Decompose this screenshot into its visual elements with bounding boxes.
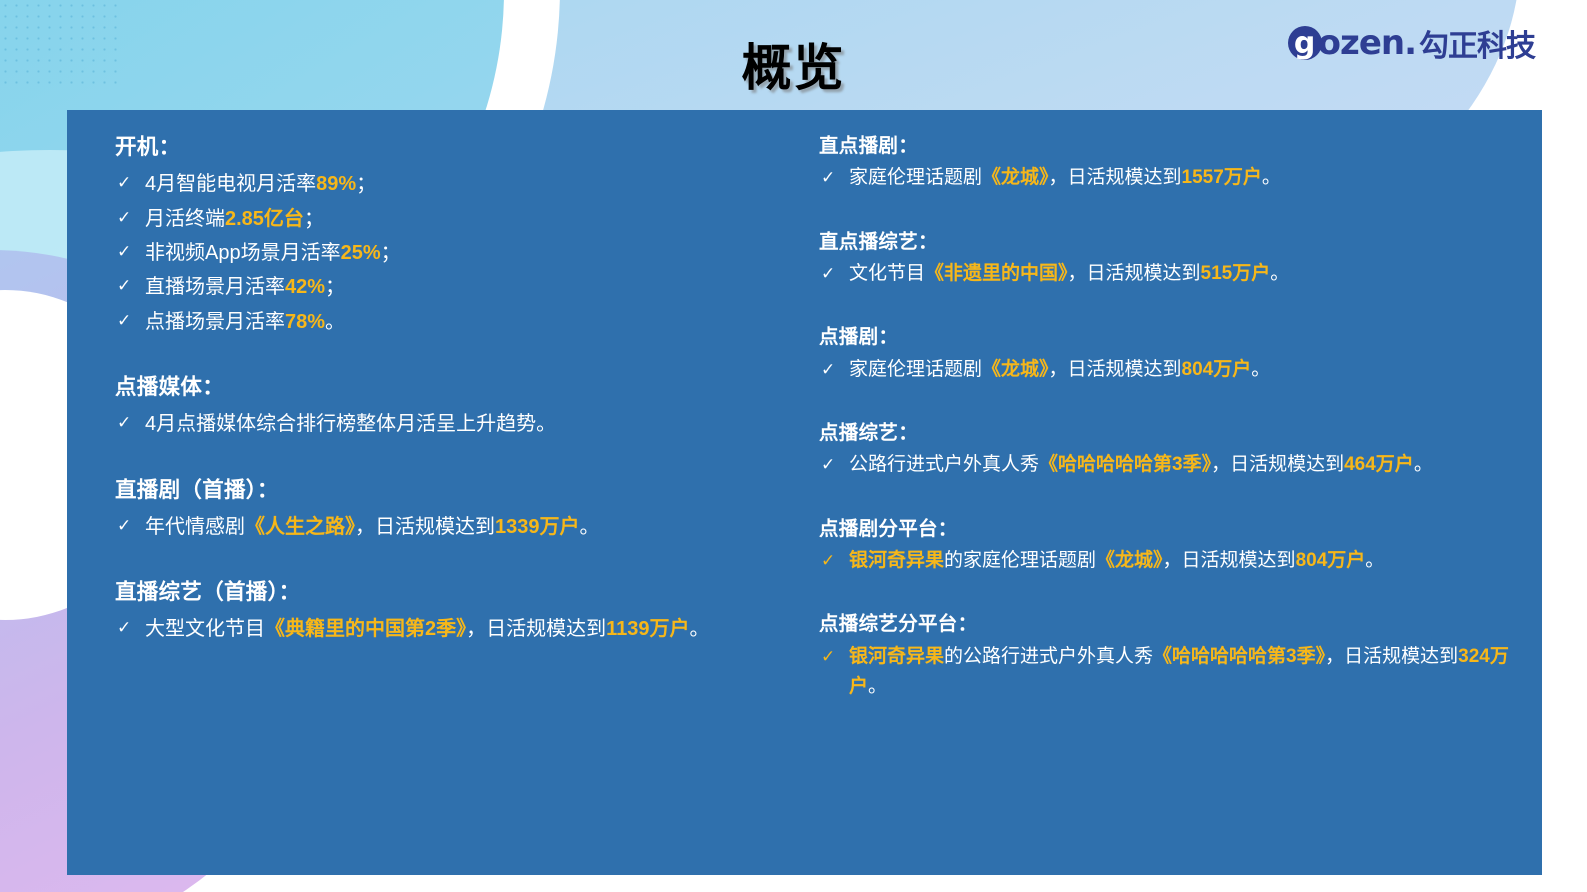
checkmark-icon: ✓ [819,259,849,288]
highlight-text: 78% [285,311,325,333]
highlight-text: 804万户 [1296,550,1366,571]
block-spacer [115,457,793,475]
plain-text: ； [304,208,324,230]
plain-text: 。 [1270,263,1289,284]
bullet-text: 家庭伦理话题剧《龙城》，日活规模达到804万户。 [849,355,1520,385]
bullet-text: 银河奇异果的家庭伦理话题剧《龙城》，日活规模达到804万户。 [849,546,1520,576]
content-block: 直点播综艺：✓文化节目《非遗里的中国》，日活规模达到515万户。 [819,228,1520,290]
highlight-text: 804万户 [1182,359,1252,380]
checkmark-icon: ✓ [115,613,145,642]
plain-text: ； [356,173,376,195]
plain-text: 的公路行进式户外真人秀 [944,646,1153,667]
bullet-item: ✓年代情感剧《人生之路》，日活规模达到1339万户。 [115,511,793,543]
checkmark-icon: ✓ [115,168,145,197]
highlight-text: 《哈哈哈哈哈第3季》 [1039,454,1211,475]
highlight-text: 《龙城》 [982,359,1049,380]
block-spacer [115,354,793,372]
slide-root: 概览 g ozen. 勾正科技 开机：✓4月智能电视月活率89%；✓月活终端2.… [0,0,1587,892]
plain-text: ，日活规模达到 [1068,263,1201,284]
logo-mark-letter: g [1294,31,1315,57]
plain-text: 大型文化节目 [145,618,265,640]
plain-text: ； [325,276,345,298]
block-heading: 直播综艺（首播）： [115,577,793,608]
bullet-text: 银河奇异果的公路行进式户外真人秀《哈哈哈哈哈第3季》，日活规模达到324万户。 [849,642,1520,703]
plain-text: ，日活规模达到 [466,618,606,640]
block-heading: 点播综艺： [819,419,1520,447]
highlight-text: 25% [341,242,381,264]
plain-text: 4月智能电视月活率 [145,173,316,195]
plain-text: 家庭伦理话题剧 [849,359,982,380]
block-heading: 点播剧分平台： [819,515,1520,543]
bullet-item: ✓直播场景月活率42%； [115,271,793,303]
plain-text: ，日活规模达到 [1211,454,1344,475]
block-spacer [819,497,1520,515]
bullet-item: ✓文化节目《非遗里的中国》，日活规模达到515万户。 [819,259,1520,289]
highlight-text: 《典籍里的中国第2季》 [265,618,466,640]
content-block: 直播综艺（首播）：✓大型文化节目《典籍里的中国第2季》，日活规模达到1139万户… [115,577,793,646]
bullet-text: 公路行进式户外真人秀《哈哈哈哈哈第3季》，日活规模达到464万户。 [849,450,1520,480]
block-heading: 开机： [115,132,793,163]
highlight-text: 银河奇异果 [849,646,944,667]
plain-text: 年代情感剧 [145,516,245,538]
bullet-item: ✓家庭伦理话题剧《龙城》，日活规模达到1557万户。 [819,163,1520,193]
bullet-text: 4月点播媒体综合排行榜整体月活呈上升趋势。 [145,408,793,440]
plain-text: 。 [325,311,345,333]
bullet-item: ✓非视频App场景月活率25%； [115,237,793,269]
plain-text: ，日活规模达到 [1049,359,1182,380]
logo-wordmark: ozen. [1318,23,1416,63]
block-spacer [819,305,1520,323]
highlight-text: 《非遗里的中国》 [925,263,1068,284]
checkmark-icon: ✓ [115,511,145,540]
plain-text: ，日活规模达到 [355,516,495,538]
checkmark-icon: ✓ [115,271,145,300]
brand-logo: g ozen. 勾正科技 [1288,22,1535,64]
content-block: 点播综艺：✓公路行进式户外真人秀《哈哈哈哈哈第3季》，日活规模达到464万户。 [819,419,1520,481]
plain-text: 。 [1262,167,1281,188]
block-spacer [819,592,1520,610]
block-heading: 点播媒体： [115,372,793,403]
highlight-text: 1557万户 [1182,167,1262,188]
plain-text: ，日活规模达到 [1325,646,1458,667]
highlight-text: 1139万户 [606,618,689,640]
checkmark-icon: ✓ [819,355,849,384]
bullet-item: ✓点播场景月活率78%。 [115,306,793,338]
highlight-text: 《人生之路》 [245,516,355,538]
checkmark-icon: ✓ [819,546,849,575]
block-heading: 直点播剧： [819,132,1520,160]
content-block: 点播剧分平台：✓银河奇异果的家庭伦理话题剧《龙城》，日活规模达到804万户。 [819,515,1520,577]
highlight-text: 515万户 [1201,263,1271,284]
highlight-text: 89% [316,173,356,195]
bullet-item: ✓公路行进式户外真人秀《哈哈哈哈哈第3季》，日活规模达到464万户。 [819,450,1520,480]
plain-text: 。 [1365,550,1384,571]
bullet-text: 文化节目《非遗里的中国》，日活规模达到515万户。 [849,259,1520,289]
content-block: 直点播剧：✓家庭伦理话题剧《龙城》，日活规模达到1557万户。 [819,132,1520,194]
highlight-text: 银河奇异果 [849,550,944,571]
plain-text: 家庭伦理话题剧 [849,167,982,188]
bullet-text: 非视频App场景月活率25%； [145,237,793,269]
plain-text: 的家庭伦理话题剧 [944,550,1096,571]
highlight-text: 1339万户 [495,516,580,538]
checkmark-icon: ✓ [115,203,145,232]
plain-text: 月活终端 [145,208,225,230]
block-spacer [819,401,1520,419]
plain-text: 。 [580,516,600,538]
bullet-text: 4月智能电视月活率89%； [145,168,793,200]
left-column: 开机：✓4月智能电视月活率89%；✓月活终端2.85亿台；✓非视频App场景月活… [67,124,807,875]
block-heading: 直播剧（首播）： [115,475,793,506]
checkmark-icon: ✓ [115,306,145,335]
bullet-text: 年代情感剧《人生之路》，日活规模达到1339万户。 [145,511,793,543]
plain-text: 公路行进式户外真人秀 [849,454,1039,475]
content-block: 点播剧：✓家庭伦理话题剧《龙城》，日活规模达到804万户。 [819,323,1520,385]
content-block: 直播剧（首播）：✓年代情感剧《人生之路》，日活规模达到1339万户。 [115,475,793,544]
checkmark-icon: ✓ [819,642,849,671]
block-spacer [819,210,1520,228]
plain-text: 。 [1251,359,1270,380]
content-panel: 开机：✓4月智能电视月活率89%；✓月活终端2.85亿台；✓非视频App场景月活… [67,110,1542,875]
plain-text: ； [381,242,401,264]
plain-text: 非视频App场景月活率 [145,242,341,264]
bullet-item: ✓4月点播媒体综合排行榜整体月活呈上升趋势。 [115,408,793,440]
plain-text: ，日活规模达到 [1049,167,1182,188]
plain-text: 。 [1414,454,1433,475]
bullet-item: ✓银河奇异果的公路行进式户外真人秀《哈哈哈哈哈第3季》，日活规模达到324万户。 [819,642,1520,703]
plain-text: 点播场景月活率 [145,311,285,333]
right-column: 直点播剧：✓家庭伦理话题剧《龙城》，日活规模达到1557万户。直点播综艺：✓文化… [807,124,1542,875]
highlight-text: 《哈哈哈哈哈第3季》 [1153,646,1325,667]
plain-text: 。 [690,618,710,640]
bullet-text: 月活终端2.85亿台； [145,203,793,235]
block-heading: 点播综艺分平台： [819,610,1520,638]
bullet-item: ✓银河奇异果的家庭伦理话题剧《龙城》，日活规模达到804万户。 [819,546,1520,576]
block-spacer [115,559,793,577]
checkmark-icon: ✓ [115,408,145,437]
plain-text: 文化节目 [849,263,925,284]
bullet-text: 家庭伦理话题剧《龙城》，日活规模达到1557万户。 [849,163,1520,193]
block-heading: 点播剧： [819,323,1520,351]
bullet-text: 大型文化节目《典籍里的中国第2季》，日活规模达到1139万户。 [145,613,793,645]
bullet-item: ✓大型文化节目《典籍里的中国第2季》，日活规模达到1139万户。 [115,613,793,645]
content-block: 点播综艺分平台：✓银河奇异果的公路行进式户外真人秀《哈哈哈哈哈第3季》，日活规模… [819,610,1520,702]
plain-text: 直播场景月活率 [145,276,285,298]
plain-text: 4月点播媒体综合排行榜整体月活呈上升趋势。 [145,413,556,435]
checkmark-icon: ✓ [819,163,849,192]
checkmark-icon: ✓ [115,237,145,266]
highlight-text: 464万户 [1344,454,1414,475]
bullet-item: ✓4月智能电视月活率89%； [115,168,793,200]
bullet-item: ✓月活终端2.85亿台； [115,203,793,235]
block-heading: 直点播综艺： [819,228,1520,256]
plain-text: ，日活规模达到 [1163,550,1296,571]
highlight-text: 2.85亿台 [225,208,304,230]
content-block: 点播媒体：✓4月点播媒体综合排行榜整体月活呈上升趋势。 [115,372,793,441]
highlight-text: 42% [285,276,325,298]
checkmark-icon: ✓ [819,450,849,479]
content-block: 开机：✓4月智能电视月活率89%；✓月活终端2.85亿台；✓非视频App场景月活… [115,132,793,338]
bullet-item: ✓家庭伦理话题剧《龙城》，日活规模达到804万户。 [819,355,1520,385]
logo-circle-icon: g [1288,26,1322,60]
plain-text: 。 [868,676,887,697]
highlight-text: 《龙城》 [1096,550,1163,571]
bullet-text: 点播场景月活率78%。 [145,306,793,338]
logo-chinese-name: 勾正科技 [1419,21,1535,65]
bullet-text: 直播场景月活率42%； [145,271,793,303]
highlight-text: 《龙城》 [982,167,1049,188]
